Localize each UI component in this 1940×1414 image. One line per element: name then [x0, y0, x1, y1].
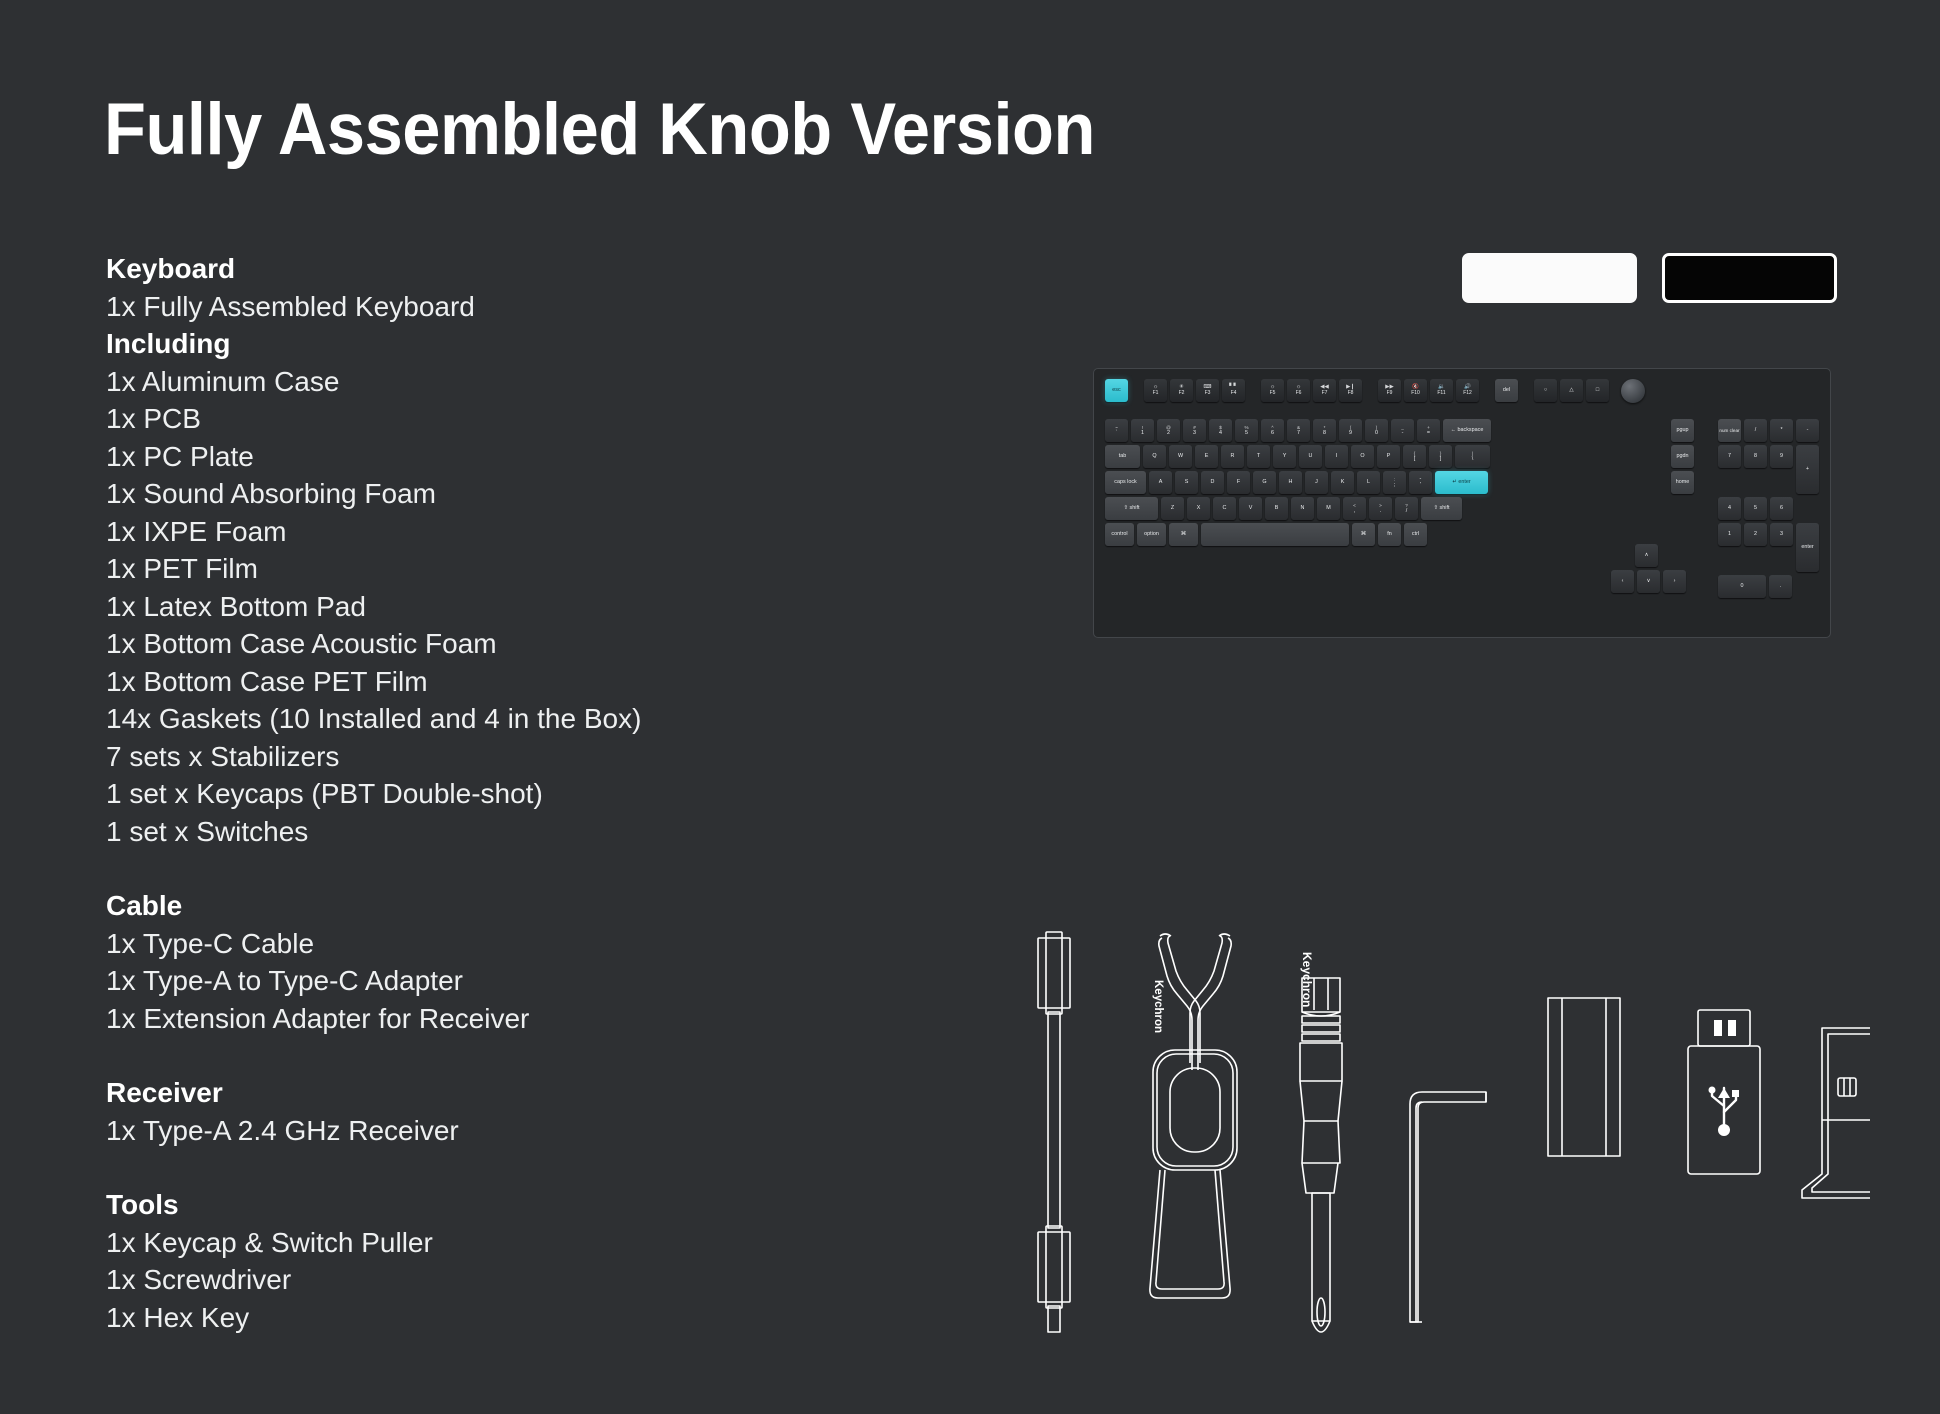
- spec-line: 1x Sound Absorbing Foam: [106, 475, 806, 513]
- key-bracket-right: }]: [1429, 445, 1452, 468]
- key-n: N: [1291, 497, 1314, 520]
- key-z: Z: [1161, 497, 1184, 520]
- spec-line: 1x Type-A to Type-C Adapter: [106, 962, 806, 1000]
- spec-heading: Tools: [106, 1186, 806, 1224]
- key-num-multiply: *: [1770, 419, 1793, 442]
- key-num-4: 4: [1718, 497, 1741, 520]
- key-num-3: 3: [1770, 523, 1793, 546]
- usb-a-to-c-adapter-icon: [1688, 1010, 1760, 1174]
- key-f4: ▘▘F4: [1222, 379, 1245, 402]
- key-0: )0: [1365, 419, 1388, 442]
- key-a: A: [1149, 471, 1172, 494]
- key-num-divide: /: [1744, 419, 1767, 442]
- spec-line: 1x Latex Bottom Pad: [106, 588, 806, 626]
- key-num-7: 7: [1718, 445, 1741, 468]
- key-enter: ↵ enter: [1435, 471, 1488, 494]
- key-6: ^6: [1261, 419, 1284, 442]
- keyboard-function-row: esc ☼F1 ☀F2 ⌨F3 ▘▘F4 ☼F5 ☼F6 ◀◀F7 ▶❙F8 ▶…: [1105, 379, 1819, 403]
- key-num-minus: -: [1796, 419, 1819, 442]
- key-control: control: [1105, 523, 1134, 546]
- key-num-8: 8: [1744, 445, 1767, 468]
- spec-subheading: Including: [106, 325, 806, 363]
- key-f: F: [1227, 471, 1250, 494]
- key-esc: esc: [1105, 379, 1128, 402]
- key-backspace: ← backspace: [1443, 419, 1491, 442]
- keyboard-numpad: num clear / * - 7 8 9 + 4 5 6 1 2 3 ente…: [1718, 419, 1819, 598]
- key-square: □: [1586, 379, 1609, 402]
- keyboard-arrow-cluster: ∧ ‹ ∨ ›: [1611, 544, 1689, 593]
- key-c: C: [1213, 497, 1236, 520]
- key-period: >.: [1369, 497, 1392, 520]
- black-swatch: [1662, 253, 1837, 303]
- key-r: R: [1221, 445, 1244, 468]
- key-slash: ?/: [1395, 497, 1418, 520]
- keyboard-number-row: ~` !1 @2 #3 $4 %5 ^6 &7 *8 (9 )0 _- += ←…: [1105, 419, 1494, 442]
- key-9: (9: [1339, 419, 1362, 442]
- keyboard-main-block: ~` !1 @2 #3 $4 %5 ^6 &7 *8 (9 )0 _- += ←…: [1105, 419, 1494, 546]
- spec-line: 1x Screwdriver: [106, 1261, 806, 1299]
- key-f8: ▶❙F8: [1339, 379, 1362, 402]
- box-brand-label: Keychron: [1300, 952, 1314, 1007]
- key-p: P: [1377, 445, 1400, 468]
- key-backslash: |\: [1455, 445, 1490, 468]
- key-m: M: [1317, 497, 1340, 520]
- key-f11: 🔉F11: [1430, 379, 1453, 402]
- key-caps-lock: caps lock: [1105, 471, 1146, 494]
- spec-line: 1 set x Keycaps (PBT Double-shot): [106, 775, 806, 813]
- key-b: B: [1265, 497, 1288, 520]
- spec-line: 1x Aluminum Case: [106, 363, 806, 401]
- spec-line: 1x Extension Adapter for Receiver: [106, 1000, 806, 1038]
- key-f10: 🔇F10: [1404, 379, 1427, 402]
- spec-section-receiver: Receiver 1x Type-A 2.4 GHz Receiver: [106, 1074, 806, 1149]
- usb-receiver-dongle-icon: [1802, 1028, 1870, 1198]
- spec-list: Keyboard 1x Fully Assembled Keyboard Inc…: [106, 250, 806, 1336]
- key-f9: ▶▶F9: [1378, 379, 1401, 402]
- key-7: &7: [1287, 419, 1310, 442]
- key-bracket-left: {[: [1403, 445, 1426, 468]
- key-l: L: [1357, 471, 1380, 494]
- spec-line: 1x PET Film: [106, 550, 806, 588]
- accessory-illustrations: Keychron Keychron: [1010, 920, 1870, 1340]
- keyboard-nav-cluster: pgup pgdn home: [1671, 419, 1697, 494]
- key-backtick: ~`: [1105, 419, 1128, 442]
- spec-line: 1x Bottom Case Acoustic Foam: [106, 625, 806, 663]
- spec-section-keyboard: Keyboard 1x Fully Assembled Keyboard Inc…: [106, 250, 806, 850]
- key-s: S: [1175, 471, 1198, 494]
- spec-line: 7 sets x Stabilizers: [106, 738, 806, 776]
- key-num-6: 6: [1770, 497, 1793, 520]
- key-num-9: 9: [1770, 445, 1793, 468]
- key-shift-left: ⇧ shift: [1105, 497, 1158, 520]
- spec-line: 1x PC Plate: [106, 438, 806, 476]
- key-quote: "': [1409, 471, 1432, 494]
- spec-line: 1x Keycap & Switch Puller: [106, 1224, 806, 1262]
- key-j: J: [1305, 471, 1328, 494]
- key-num-enter: enter: [1796, 523, 1819, 572]
- key-h: H: [1279, 471, 1302, 494]
- key-comma: <,: [1343, 497, 1366, 520]
- key-3: #3: [1183, 419, 1206, 442]
- key-circle: ○: [1534, 379, 1557, 402]
- key-num-plus: +: [1796, 445, 1819, 494]
- key-u: U: [1299, 445, 1322, 468]
- rotary-knob: [1621, 379, 1645, 403]
- key-d: D: [1201, 471, 1224, 494]
- key-pgdn: pgdn: [1671, 445, 1694, 468]
- key-del: del: [1495, 379, 1518, 402]
- key-5: %5: [1235, 419, 1258, 442]
- key-e: E: [1195, 445, 1218, 468]
- key-pgup: pgup: [1671, 419, 1694, 442]
- spec-line: 1x PCB: [106, 400, 806, 438]
- type-c-cable-icon: [1038, 932, 1070, 1332]
- white-swatch: [1462, 253, 1637, 303]
- key-arrow-right: ›: [1663, 570, 1686, 593]
- puller-brand-label: Keychron: [1152, 980, 1164, 1033]
- key-semicolon: :;: [1383, 471, 1406, 494]
- key-option: option: [1137, 523, 1166, 546]
- key-ctrl-right: ctrl: [1404, 523, 1427, 546]
- key-space: [1201, 523, 1349, 546]
- key-q: Q: [1143, 445, 1166, 468]
- key-g: G: [1253, 471, 1276, 494]
- spec-line: 1x Type-C Cable: [106, 925, 806, 963]
- key-k: K: [1331, 471, 1354, 494]
- spec-line: 1x Fully Assembled Keyboard: [106, 288, 806, 326]
- screwdriver-icon: [1300, 978, 1342, 1332]
- key-f5: ☼F5: [1261, 379, 1284, 402]
- key-f3: ⌨F3: [1196, 379, 1219, 402]
- key-num-2: 2: [1744, 523, 1767, 546]
- spec-line: 1x Type-A 2.4 GHz Receiver: [106, 1112, 806, 1150]
- keyboard-qwerty-row: tab Q W E R T Y U I O P {[ }] |\: [1105, 445, 1494, 468]
- keyboard-illustration: esc ☼F1 ☀F2 ⌨F3 ▘▘F4 ☼F5 ☼F6 ◀◀F7 ▶❙F8 ▶…: [1093, 368, 1831, 638]
- hex-key-icon: [1410, 1092, 1486, 1322]
- key-f12: 🔊F12: [1456, 379, 1479, 402]
- key-equals: +=: [1417, 419, 1440, 442]
- key-num-clear: num clear: [1718, 419, 1741, 442]
- spec-line: 1x Bottom Case PET Film: [106, 663, 806, 701]
- spec-line: 1x Hex Key: [106, 1299, 806, 1337]
- key-num-decimal: .: [1769, 575, 1792, 598]
- key-8: *8: [1313, 419, 1336, 442]
- spec-line: 1 set x Switches: [106, 813, 806, 851]
- key-v: V: [1239, 497, 1262, 520]
- key-triangle: △: [1560, 379, 1583, 402]
- key-i: I: [1325, 445, 1348, 468]
- key-y: Y: [1273, 445, 1296, 468]
- key-tab: tab: [1105, 445, 1140, 468]
- usb-logo-icon: [1709, 1087, 1740, 1137]
- key-t: T: [1247, 445, 1270, 468]
- keyboard-bottom-row: control option ⌘ ⌘ fn ctrl: [1105, 523, 1494, 546]
- key-num-5: 5: [1744, 497, 1767, 520]
- key-f2: ☀F2: [1170, 379, 1193, 402]
- spec-heading: Cable: [106, 887, 806, 925]
- keyboard-home-row: caps lock A S D F G H J K L :; "' ↵ ente…: [1105, 471, 1494, 494]
- key-arrow-down: ∨: [1637, 570, 1660, 593]
- key-home: home: [1671, 471, 1694, 494]
- key-shift-right: ⇧ shift: [1421, 497, 1462, 520]
- key-4: $4: [1209, 419, 1232, 442]
- spec-heading: Receiver: [106, 1074, 806, 1112]
- keyboard-shift-row: ⇧ shift Z X C V B N M <, >. ?/ ⇧ shift: [1105, 497, 1494, 520]
- key-f6: ☼F6: [1287, 379, 1310, 402]
- key-command-right: ⌘: [1352, 523, 1375, 546]
- key-1: !1: [1131, 419, 1154, 442]
- key-command-left: ⌘: [1169, 523, 1198, 546]
- key-f7: ◀◀F7: [1313, 379, 1336, 402]
- key-2: @2: [1157, 419, 1180, 442]
- key-num-1: 1: [1718, 523, 1741, 546]
- key-num-0: 0: [1718, 575, 1766, 598]
- key-minus: _-: [1391, 419, 1414, 442]
- key-x: X: [1187, 497, 1210, 520]
- spec-section-tools: Tools 1x Keycap & Switch Puller 1x Screw…: [106, 1186, 806, 1336]
- key-arrow-left: ‹: [1611, 570, 1634, 593]
- page-title: Fully Assembled Knob Version: [104, 92, 1095, 169]
- key-fn: fn: [1378, 523, 1401, 546]
- spec-line: 1x IXPE Foam: [106, 513, 806, 551]
- key-w: W: [1169, 445, 1192, 468]
- key-arrow-up: ∧: [1635, 544, 1658, 567]
- color-swatches: [1462, 253, 1837, 303]
- spec-heading: Keyboard: [106, 250, 806, 288]
- key-o: O: [1351, 445, 1374, 468]
- spec-section-cable: Cable 1x Type-C Cable 1x Type-A to Type-…: [106, 887, 806, 1037]
- spec-line: 14x Gaskets (10 Installed and 4 in the B…: [106, 700, 806, 738]
- key-f1: ☼F1: [1144, 379, 1167, 402]
- keychron-box-icon: [1548, 998, 1620, 1156]
